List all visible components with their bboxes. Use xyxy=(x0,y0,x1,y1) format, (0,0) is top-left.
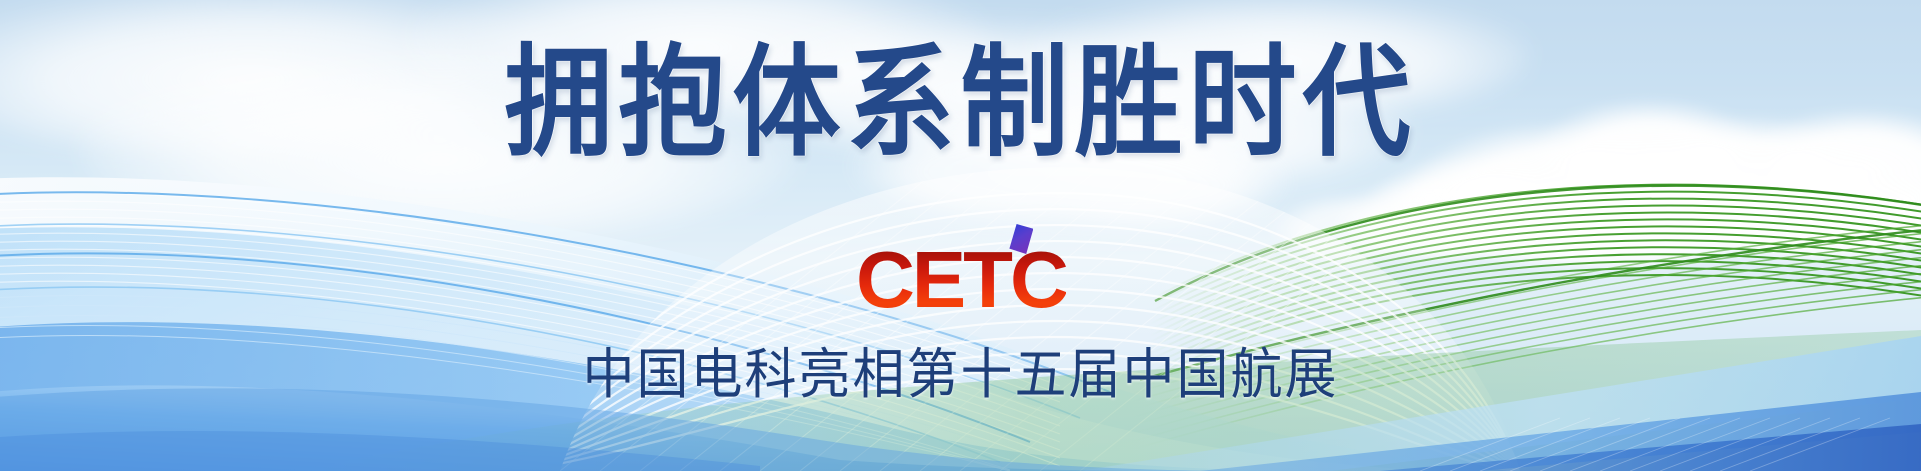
cetc-wordmark: CETC xyxy=(856,240,1066,320)
cetc-logo: CETC xyxy=(858,240,1064,320)
headline-block: 拥抱体系制胜时代 xyxy=(0,38,1921,155)
subtitle-block: 中国电科亮相第十五届中国航展 xyxy=(0,346,1921,403)
cetc-airshow-banner: 拥抱体系制胜时代 CETC 中国电科亮相第十五届中国航展 xyxy=(0,0,1921,471)
page-subtitle: 中国电科亮相第十五届中国航展 xyxy=(582,346,1338,406)
logo-block: CETC xyxy=(0,240,1921,320)
page-title: 拥抱体系制胜时代 xyxy=(504,38,1416,169)
